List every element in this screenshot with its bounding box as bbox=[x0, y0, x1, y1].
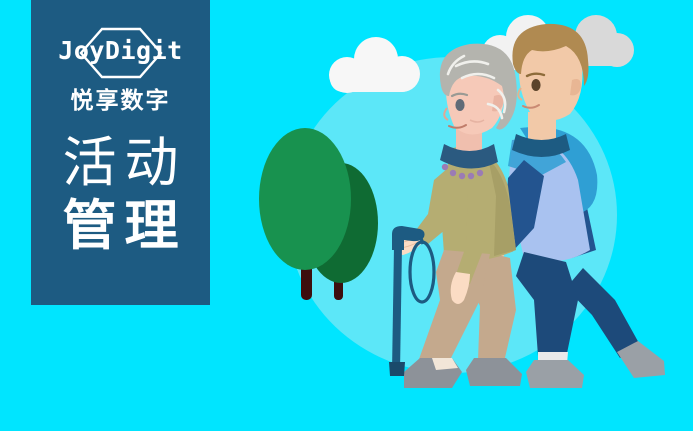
man-front-shoe bbox=[526, 360, 584, 388]
page-title: 活动 管理 bbox=[31, 132, 210, 258]
title-panel: JoyDigit 悦享数字 活动 管理 bbox=[31, 0, 210, 305]
woman-eye bbox=[455, 99, 464, 111]
page-title-line-1: 活动 bbox=[31, 132, 210, 195]
logo-chinese-name: 悦享数字 bbox=[31, 86, 210, 114]
woman-back-shoe bbox=[466, 358, 522, 386]
cane-strap-link bbox=[421, 238, 423, 244]
cloud-left bbox=[329, 37, 420, 93]
man-eye bbox=[531, 79, 540, 91]
logo-mark: JoyDigit bbox=[31, 26, 210, 80]
poster-canvas: JoyDigit 悦享数字 活动 管理 bbox=[0, 0, 693, 431]
page-title-line-2: 管理 bbox=[31, 195, 210, 258]
brand-logo: JoyDigit 悦享数字 bbox=[31, 26, 210, 114]
logo-wordmark: JoyDigit bbox=[31, 36, 210, 66]
cane-tip bbox=[389, 362, 405, 376]
